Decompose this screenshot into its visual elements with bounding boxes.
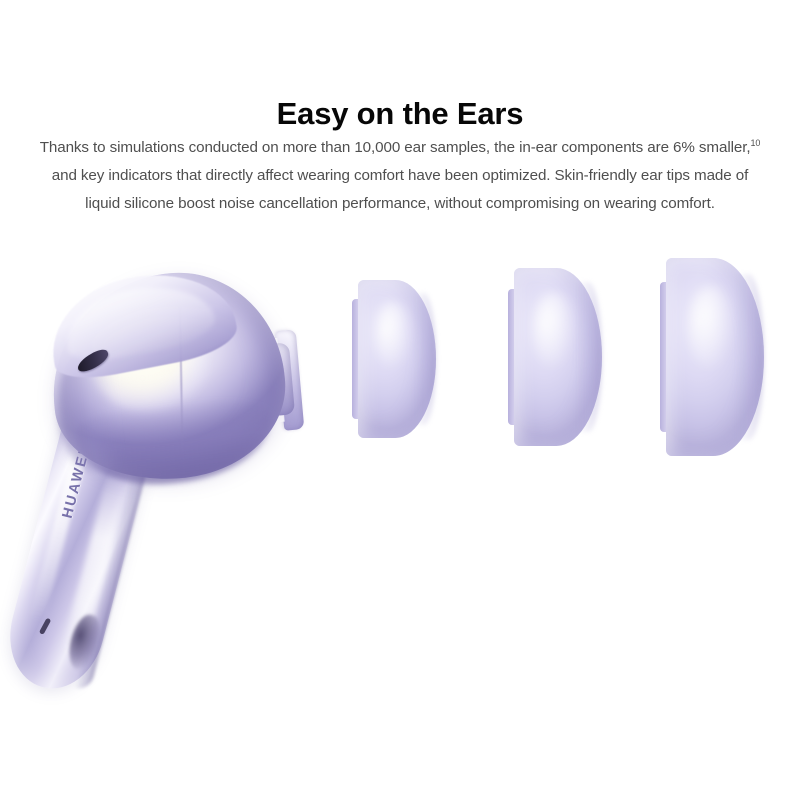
ear-tip-medium-sheen [533,293,573,368]
earbud-head-rim-inner [59,275,218,366]
description-paragraph: Thanks to simulations conducted on more … [6,134,794,218]
description-line-1-text: Thanks to simulations conducted on more … [40,139,751,156]
page-title: Easy on the Ears [0,95,800,133]
ear-tip-medium-dome [514,268,602,446]
earbud-head [42,262,294,490]
ear-tip-medium [508,268,602,446]
ear-tip-small-sheen [375,302,411,368]
ear-tip-large-edge-shade [735,274,764,440]
description-line-2: and key indicators that directly affect … [6,162,794,190]
product-image-stage: HUAWEI [0,240,800,760]
ear-tip-small-dome [358,280,436,438]
ear-tip-large-sheen [688,286,733,369]
description-line-3: liquid silicone boost noise cancellation… [6,190,794,218]
ear-tip-small-edge-shade [413,293,436,426]
earbud-head-rim [41,260,241,386]
huawei-earbud-image: HUAWEI [30,260,330,730]
ear-tip-large [660,258,764,456]
marketing-page: Easy on the Ears Thanks to simulations c… [0,0,800,800]
description-line-1: Thanks to simulations conducted on more … [6,134,794,162]
ear-tip-small [352,280,436,438]
footnote-marker: 10 [750,138,760,148]
ear-tip-large-dome [666,258,764,456]
ear-tip-medium-edge-shade [576,282,602,432]
